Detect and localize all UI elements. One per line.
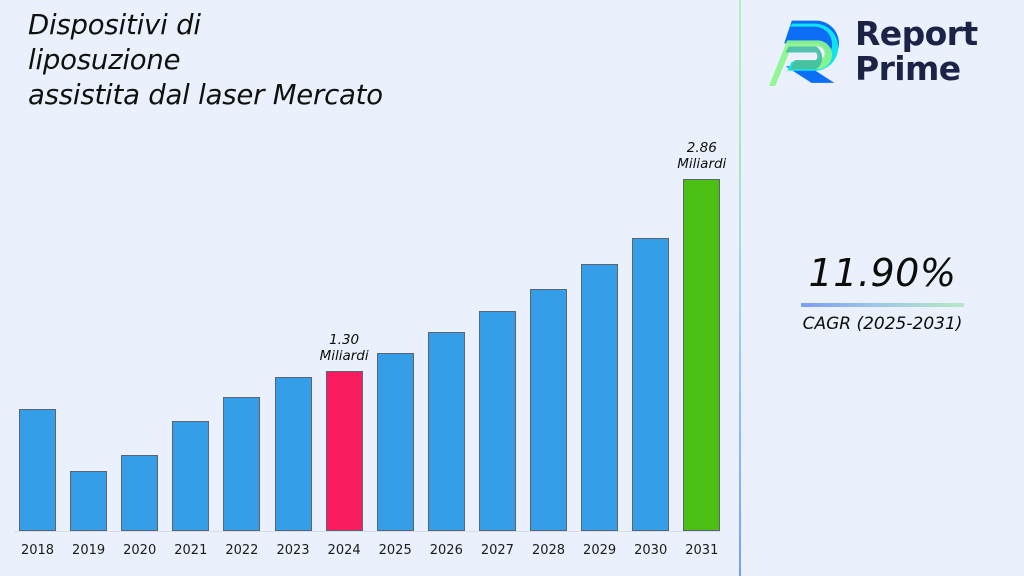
bar-2022 [223, 397, 260, 531]
chart-panel: Dispositivi di liposuzione assistita dal… [0, 0, 740, 576]
x-tick-2027: 2027 [469, 543, 525, 558]
x-tick-2020: 2020 [112, 543, 168, 558]
bar-2020 [121, 455, 158, 531]
bar-2018 [19, 409, 56, 531]
bar-2021 [172, 421, 209, 531]
cagr-caption: CAGR (2025-2031) [741, 313, 1024, 335]
cagr-divider-rule [801, 303, 964, 307]
bar-2030 [632, 238, 669, 531]
x-tick-2019: 2019 [61, 543, 117, 558]
x-tick-2022: 2022 [214, 543, 270, 558]
x-tick-2023: 2023 [265, 543, 321, 558]
bar-2024 [326, 371, 363, 531]
value-label-2024: 1.30 Miliardi [299, 332, 389, 364]
bar-2031 [683, 179, 720, 531]
x-tick-2025: 2025 [367, 543, 423, 558]
report-prime-logo-icon [769, 12, 845, 90]
brand-name-line2: Prime [855, 51, 978, 86]
x-tick-2026: 2026 [418, 543, 474, 558]
bar-2029 [581, 264, 618, 531]
plot-area: 1.30 Miliardi2.86 Miliardi 2018201920202… [0, 0, 740, 576]
bar-2023 [275, 377, 312, 531]
x-tick-2021: 2021 [163, 543, 219, 558]
axis-baseline [14, 531, 720, 532]
x-tick-2018: 2018 [10, 543, 66, 558]
infographic-root: Dispositivi di liposuzione assistita dal… [0, 0, 1024, 576]
bar-2025 [377, 353, 414, 531]
x-tick-2031: 2031 [674, 543, 730, 558]
value-label-2031: 2.86 Miliardi [657, 140, 747, 172]
cagr-value: 11.90% [741, 250, 1024, 296]
x-tick-2024: 2024 [316, 543, 372, 558]
x-tick-2030: 2030 [623, 543, 679, 558]
brand-name-line1: Report [855, 16, 978, 51]
x-tick-2028: 2028 [521, 543, 577, 558]
brand-logo: Report Prime [769, 12, 978, 90]
x-tick-2029: 2029 [572, 543, 628, 558]
bar-2019 [70, 471, 107, 531]
bar-2028 [530, 289, 567, 531]
brand-name: Report Prime [855, 16, 978, 86]
bar-2027 [479, 311, 516, 531]
cagr-block: 11.90% CAGR (2025-2031) [741, 250, 1024, 335]
right-panel: Report Prime 11.90% CAGR (2025-2031) [741, 0, 1024, 576]
bar-2026 [428, 332, 465, 531]
